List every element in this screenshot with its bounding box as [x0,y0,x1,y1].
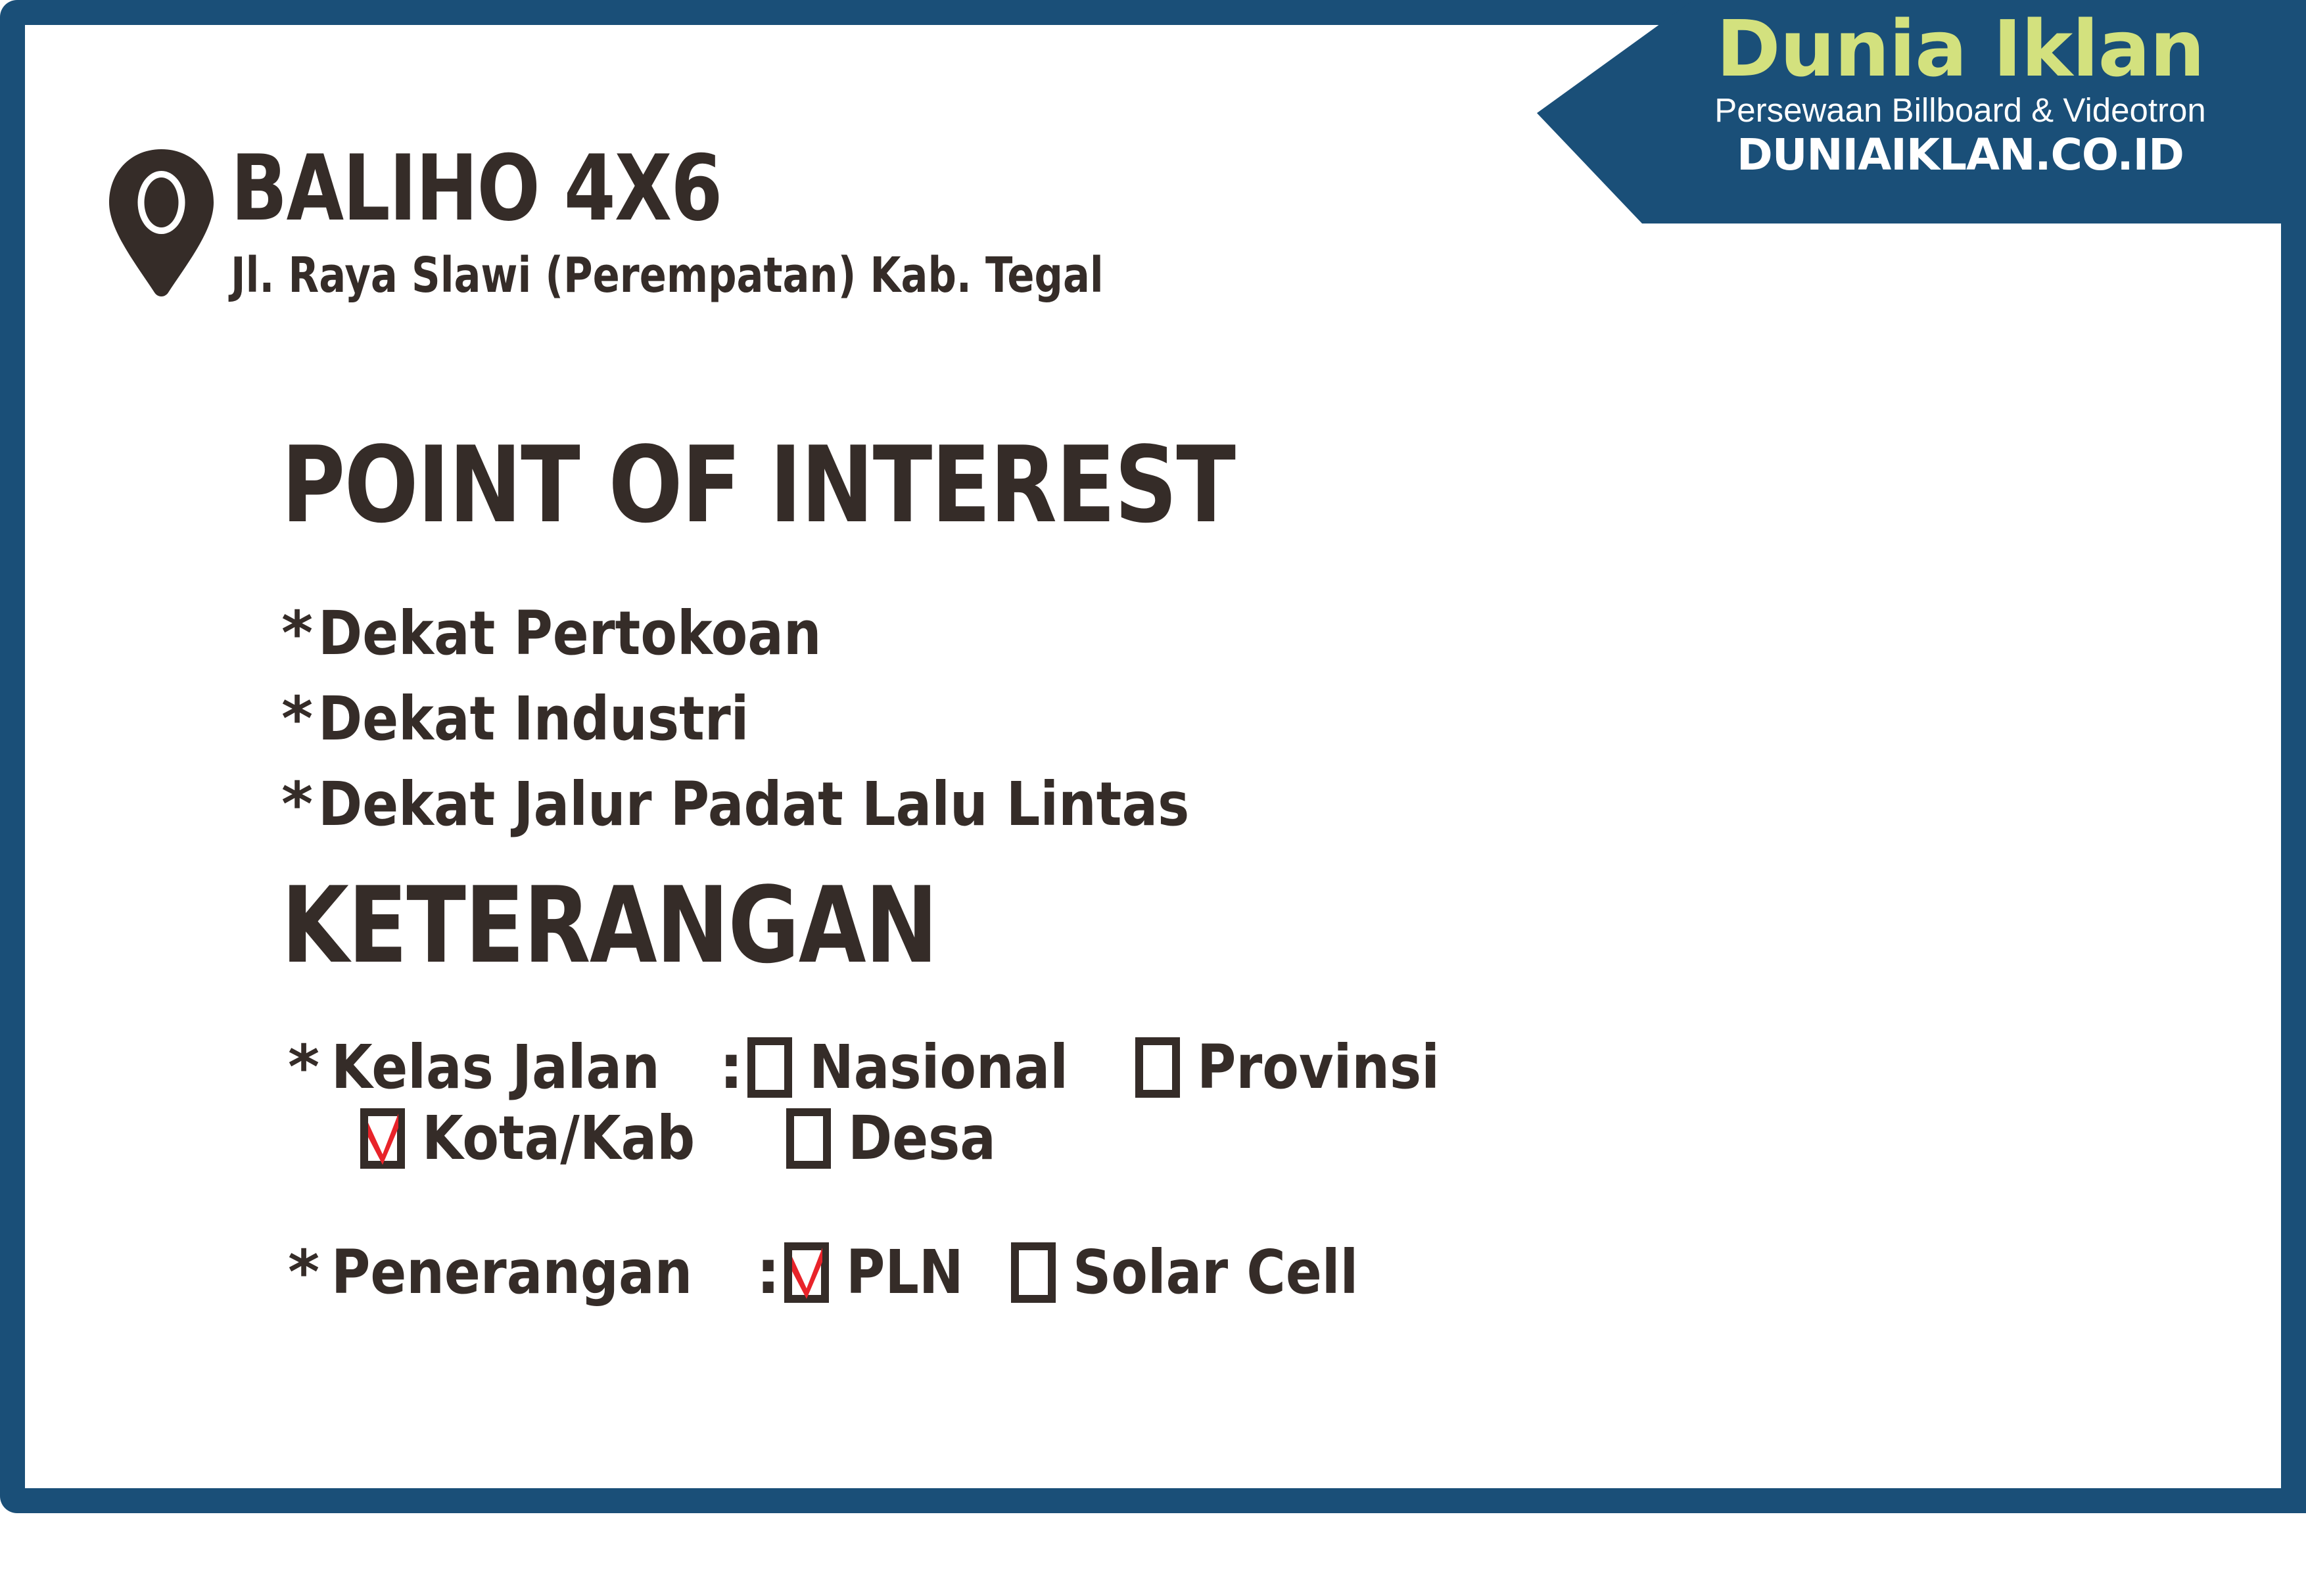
list-item: * Dekat Jalur Padat Lalu Lintas [281,774,1308,835]
field-kelas-jalan-continued: Kota/Kab Desa [288,1108,1472,1169]
list-item-label: Dekat Industri [318,689,749,749]
checkbox-nasional[interactable]: Nasional [747,1037,1135,1098]
field-colon: : [719,1037,743,1098]
map-pin-icon [104,147,219,315]
field-prefix: * Penerangan [288,1242,741,1303]
brand-tagline: Persewaan Billboard & Videotron [1632,91,2289,130]
billboard-header: BALIHO 4X6 Jl. Raya Slawi (Perempatan) K… [104,143,1295,315]
card-content: BALIHO 4X6 Jl. Raya Slawi (Perempatan) K… [25,25,2281,1488]
asterisk-icon: * [288,1242,319,1303]
field-penerangan: * Penerangan : PLN So [288,1242,1472,1303]
brand-badge-text: Dunia Iklan Persewaan Billboard & Videot… [1632,9,2289,179]
list-item: * Dekat Industri [281,689,1308,749]
field-kelas-jalan: * Kelas Jalan : Nasional Provinsi [288,1037,1472,1098]
field-prefix: * Kelas Jalan [288,1037,705,1098]
asterisk-icon: * [281,774,318,835]
keterangan-fields: * Kelas Jalan : Nasional Provinsi [288,1037,1472,1303]
brand-name: Dunia Iklan [1632,9,2289,88]
checkbox-unchecked-icon[interactable] [747,1037,792,1098]
checkbox-desa[interactable]: Desa [786,1108,1016,1169]
checkbox-kota-kab[interactable]: Kota/Kab [360,1108,764,1169]
field-colon: : [756,1242,780,1303]
checkbox-label[interactable]: Provinsi [1197,1037,1440,1098]
checkbox-label[interactable]: PLN [846,1242,964,1303]
header-text-block: BALIHO 4X6 Jl. Raya Slawi (Perempatan) K… [231,143,1295,300]
asterisk-icon: * [288,1037,319,1098]
page-subtitle-address: Jl. Raya Slawi (Perempatan) Kab. Tegal [231,251,1104,300]
checkbox-checked-icon[interactable] [784,1242,829,1303]
checkbox-solar-cell[interactable]: Solar Cell [1011,1242,1397,1303]
asterisk-icon: * [281,603,318,664]
page-title: BALIHO 4X6 [231,143,1104,234]
checkbox-label[interactable]: Kota/Kab [422,1108,695,1169]
field-label: Penerangan [331,1242,692,1303]
list-item-label: Dekat Pertokoan [318,603,822,664]
section-heading-poi: POINT OF INTEREST [281,433,1235,538]
checkbox-label[interactable]: Nasional [809,1037,1068,1098]
checkbox-provinsi[interactable]: Provinsi [1135,1037,1472,1098]
checkbox-checked-icon[interactable] [360,1108,405,1169]
checkbox-unchecked-icon[interactable] [1135,1037,1180,1098]
brand-website-url: DUNIAIKLAN.CO.ID [1632,131,2289,179]
asterisk-icon: * [281,689,318,749]
section-heading-keterangan: KETERANGAN [281,873,937,978]
poi-list: * Dekat Pertokoan * Dekat Industri * Dek… [281,603,1308,860]
checkbox-unchecked-icon[interactable] [786,1108,831,1169]
list-item: * Dekat Pertokoan [281,603,1308,664]
checkbox-label[interactable]: Solar Cell [1073,1242,1358,1303]
checkbox-unchecked-icon[interactable] [1011,1242,1056,1303]
checkbox-label[interactable]: Desa [848,1108,996,1169]
checkbox-pln[interactable]: PLN [784,1242,1011,1303]
field-label: Kelas Jalan [331,1037,660,1098]
list-item-label: Dekat Jalur Padat Lalu Lintas [318,774,1189,835]
